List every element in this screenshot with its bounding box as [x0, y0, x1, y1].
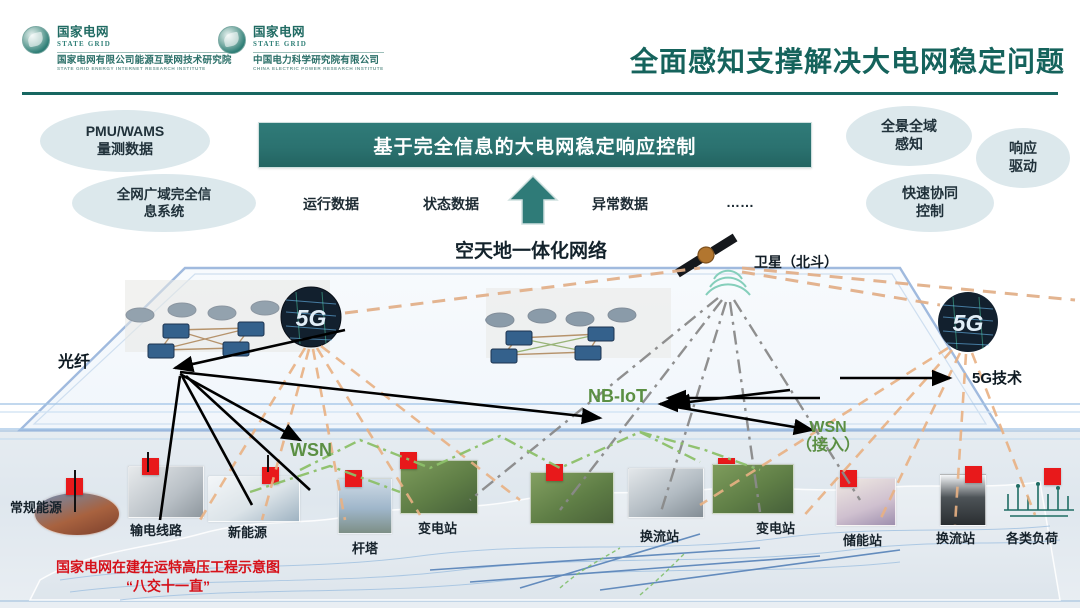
map-caption-line-2: “八交十一直” [18, 577, 318, 596]
integrated-network-stage: 空天地一体化网络 [0, 236, 1080, 436]
data-label-abnormal: 异常数据 [592, 194, 648, 214]
logo-state-grid-cepri: 国家电网 STATE GRID 中国电力科学研究院有限公司 CHINA ELEC… [218, 26, 384, 72]
label-nb-iot: NB-IoT [588, 386, 647, 407]
asset-label: 常规能源 [10, 500, 62, 516]
asset-label: 各类负荷 [1006, 528, 1058, 547]
logo-text-block: 国家电网 STATE GRID 中国电力科学研究院有限公司 CHINA ELEC… [253, 26, 384, 72]
red-sensor-marker [345, 470, 362, 487]
logo-institute-en: CHINA ELECTRIC POWER RESEARCH INSTITUTE [253, 67, 384, 72]
up-arrow-icon [505, 174, 561, 226]
ellipse-line-2: 驱动 [1009, 158, 1037, 176]
slide-root: 国家电网 STATE GRID 国家电网有限公司能源互联网技术研究院 STATE… [0, 0, 1080, 608]
map-caption-line-1: 国家电网在建在运特高压工程示意图 [18, 558, 318, 577]
control-banner-text: 基于完全信息的大电网稳定响应控制 [373, 132, 696, 159]
state-grid-globe-icon [22, 26, 50, 54]
state-grid-globe-icon [218, 26, 246, 54]
network-title: 空天地一体化网络 [455, 236, 607, 263]
ellipse-line-2: 控制 [902, 203, 958, 221]
label-wsn-access-line-2: （接入） [796, 437, 860, 455]
label-wsn-access-line-1: WSN [796, 419, 860, 437]
logo-cn-name: 国家电网 [253, 26, 384, 39]
asset-label: 杆塔 [352, 538, 378, 557]
logo-divider [57, 52, 232, 53]
asset-label: 换流站 [640, 526, 679, 545]
asset-label: 新能源 [228, 522, 267, 541]
logo-institute-cn: 中国电力科学研究院有限公司 [253, 56, 384, 66]
control-banner: 基于完全信息的大电网稳定响应控制 [258, 122, 812, 168]
red-sensor-marker [965, 466, 982, 483]
ellipse-wide-area-info-system: 全网广域完全信 息系统 [72, 174, 256, 232]
transmission-line-icon [128, 466, 204, 518]
slide-header: 国家电网 STATE GRID 国家电网有限公司能源互联网技术研究院 STATE… [0, 0, 1080, 92]
data-label-ellipsis: …… [726, 194, 754, 210]
red-sensor-marker [400, 452, 417, 469]
label-5g-tech: 5G技术 [972, 367, 1022, 388]
loads-icon [1000, 476, 1080, 526]
logo-state-grid-eiri: 国家电网 STATE GRID 国家电网有限公司能源互联网技术研究院 STATE… [22, 26, 232, 72]
asset-label: 变电站 [756, 518, 795, 537]
asset-label: 储能站 [843, 530, 882, 549]
page-title-wrap: 全面感知支撑解决大电网稳定问题 [545, 40, 1065, 80]
header-divider [22, 92, 1058, 95]
ellipse-line-1: 快速协同 [902, 185, 958, 203]
asset-label: 换流站 [936, 528, 975, 547]
ellipse-line-1: 全网广域完全信 [117, 186, 212, 203]
ellipse-panoramic-sensing: 全景全域 感知 [846, 106, 972, 166]
new-energy-icon [208, 476, 300, 522]
ellipse-fast-coordinated-control: 快速协同 控制 [866, 174, 994, 232]
page-title: 全面感知支撑解决大电网稳定问题 [545, 40, 1065, 80]
logo-en-name: STATE GRID [57, 41, 232, 48]
ellipse-line-2: 息系统 [117, 203, 212, 220]
logo-divider [253, 52, 384, 53]
ellipse-pmu-wams: PMU/WAMS 量测数据 [40, 110, 210, 172]
ellipse-line-2: 量测数据 [86, 141, 165, 159]
ellipse-line-2: 感知 [881, 136, 937, 154]
label-wsn-access: WSN （接入） [796, 419, 860, 454]
substation-icon [712, 464, 794, 514]
red-sensor-marker [262, 467, 279, 484]
concept-band: PMU/WAMS 量测数据 全网广域完全信 息系统 基于完全信息的大电网稳定响应… [0, 96, 1080, 244]
label-satellite: 卫星（北斗） [754, 252, 838, 272]
label-wsn: WSN [290, 440, 332, 461]
logo-cn-name: 国家电网 [57, 26, 232, 39]
logo-institute-en: STATE GRID ENERGY INTERNET RESEARCH INST… [57, 67, 232, 72]
map-caption: 国家电网在建在运特高压工程示意图 “八交十一直” [18, 558, 318, 596]
red-sensor-marker [840, 470, 857, 487]
logo-institute-cn: 国家电网有限公司能源互联网技术研究院 [57, 56, 232, 66]
substation-icon [628, 468, 704, 518]
ellipse-line-1: PMU/WAMS [86, 123, 165, 141]
logo-text-block: 国家电网 STATE GRID 国家电网有限公司能源互联网技术研究院 STATE… [57, 26, 232, 72]
ellipse-line-1: 响应 [1009, 140, 1037, 158]
ellipse-line-1: 全景全域 [881, 118, 937, 136]
red-sensor-marker [546, 464, 563, 481]
asset-label: 变电站 [418, 518, 457, 537]
label-fiber: 光纤 [58, 348, 90, 372]
logo-en-name: STATE GRID [253, 41, 384, 48]
data-label-status: 状态数据 [423, 194, 479, 214]
asset-label: 输电线路 [130, 520, 182, 539]
red-sensor-marker [142, 458, 159, 475]
data-label-operation: 运行数据 [303, 194, 359, 214]
ellipse-response-driven: 响应 驱动 [976, 128, 1070, 188]
red-sensor-marker [66, 478, 83, 495]
converter-station-icon [530, 472, 614, 524]
